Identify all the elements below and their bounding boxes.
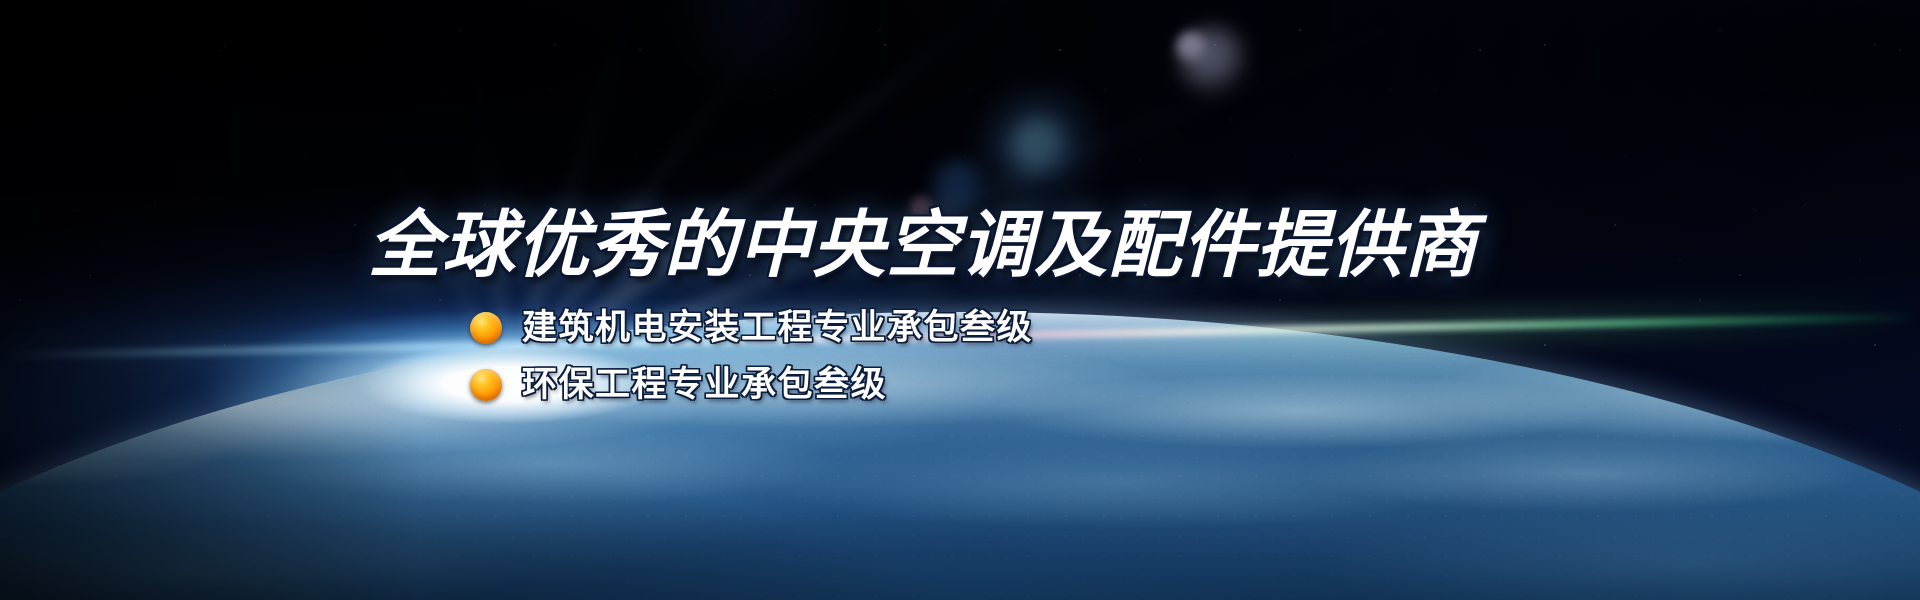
list-item: 环保工程专业承包叁级 [470, 367, 1033, 402]
orange-dot-bullet-icon [470, 312, 502, 344]
list-item-label: 环保工程专业承包叁级 [522, 367, 887, 402]
orange-dot-bullet-icon [470, 369, 502, 401]
hero-banner: 全球优秀的中央空调及配件提供商 建筑机电安装工程专业承包叁级 环保工程专业承包叁… [0, 0, 1920, 600]
list-item: 建筑机电安装工程专业承包叁级 [470, 310, 1033, 345]
list-item-label: 建筑机电安装工程专业承包叁级 [522, 310, 1033, 345]
qualification-list: 建筑机电安装工程专业承包叁级 环保工程专业承包叁级 [470, 310, 1033, 402]
banner-headline: 全球优秀的中央空调及配件提供商 [368, 203, 1478, 289]
banner-content: 全球优秀的中央空调及配件提供商 建筑机电安装工程专业承包叁级 环保工程专业承包叁… [0, 0, 1920, 600]
